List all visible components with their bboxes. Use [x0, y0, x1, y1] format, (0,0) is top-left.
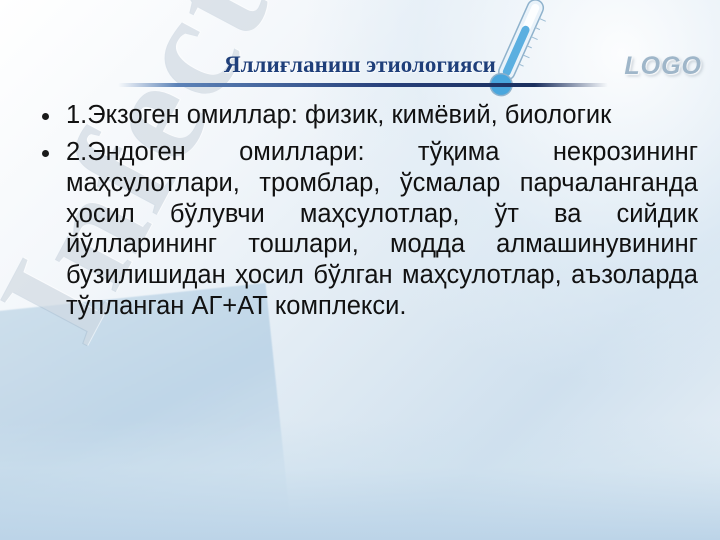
page-title: Яллиғланиш этиологияси — [0, 52, 720, 78]
bullet-list: 1.Экзоген омиллар: физик, кимёвий, биоло… — [22, 100, 698, 322]
background-band-bottom — [0, 420, 720, 540]
slide: Infection Яллиғланиш этиологияси LOGO 1.… — [0, 0, 720, 540]
title-underline — [118, 83, 608, 87]
logo: LOGO — [624, 52, 702, 81]
list-item: 1.Экзоген омиллар: физик, кимёвий, биоло… — [22, 100, 698, 131]
slide-body: 1.Экзоген омиллар: физик, кимёвий, биоло… — [22, 100, 698, 328]
list-item: 2.Эндоген омиллари: тўқима некрозининг м… — [22, 137, 698, 322]
